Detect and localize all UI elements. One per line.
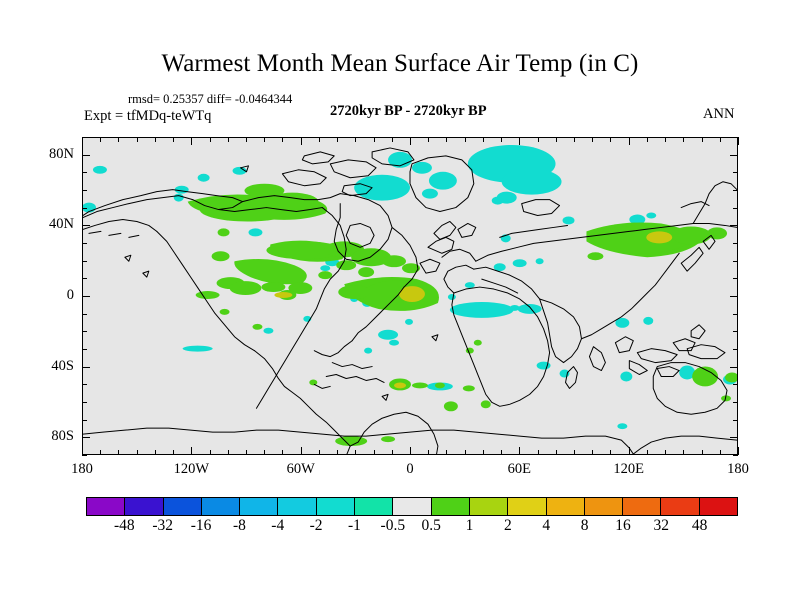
colorbar-cell-7 <box>355 498 393 515</box>
x-axis-label-180: 180 <box>698 462 778 477</box>
map-frame <box>82 137 738 455</box>
colorbar-cell-5 <box>278 498 316 515</box>
x-tick-top <box>738 137 739 145</box>
y-axis-label-0: 0 <box>67 288 74 303</box>
map-plot-area <box>82 137 738 455</box>
colorbar-tick-32: 32 <box>654 518 670 534</box>
colorbar-tick--4: -4 <box>271 518 284 534</box>
colorbar-tick-0.5: 0.5 <box>421 518 440 534</box>
colorbar-tick--32: -32 <box>152 518 173 534</box>
y-axis-label-40N: 40N <box>49 217 74 232</box>
y-tick <box>82 455 87 456</box>
colorbar-cell-10 <box>470 498 508 515</box>
colorbar-tick--0.5: -0.5 <box>381 518 406 534</box>
colorbar: -48-32-16-8-4-2-1-0.50.51248163248 <box>86 497 738 516</box>
statistics-line: rmsd= 0.25357 diff= -0.0464344 <box>128 92 292 107</box>
x-axis-label-0: 0 <box>370 462 450 477</box>
colorbar-tick--8: -8 <box>233 518 246 534</box>
colorbar-cell-9 <box>432 498 470 515</box>
colorbar-cells <box>86 497 738 516</box>
x-axis-label-180: 180 <box>42 462 122 477</box>
colorbar-cell-2 <box>164 498 202 515</box>
colorbar-tick-4: 4 <box>542 518 550 534</box>
colorbar-tick-1: 1 <box>466 518 474 534</box>
period-label: 2720kyr BP - 2720kyr BP <box>330 103 487 120</box>
x-axis-label-60W: 60W <box>261 462 341 477</box>
colorbar-tick--1: -1 <box>348 518 361 534</box>
colorbar-cell-3 <box>202 498 240 515</box>
colorbar-tick--2: -2 <box>310 518 323 534</box>
x-tick <box>738 447 739 455</box>
figure-canvas: Warmest Month Mean Surface Air Temp (in … <box>0 0 800 600</box>
experiment-label: Expt = tfMDq-teWTq <box>84 108 211 125</box>
colorbar-cell-4 <box>240 498 278 515</box>
x-axis-label-120W: 120W <box>151 462 231 477</box>
world-map <box>83 138 737 454</box>
colorbar-cell-16 <box>700 498 737 515</box>
colorbar-cell-14 <box>623 498 661 515</box>
colorbar-cell-11 <box>508 498 546 515</box>
colorbar-tick-labels: -48-32-16-8-4-2-1-0.50.51248163248 <box>86 518 738 538</box>
x-axis-label-120E: 120E <box>589 462 669 477</box>
colorbar-tick-2: 2 <box>504 518 512 534</box>
colorbar-tick-48: 48 <box>692 518 708 534</box>
x-axis-label-60E: 60E <box>479 462 559 477</box>
y-axis-label-80S: 80S <box>51 429 74 444</box>
colorbar-cell-1 <box>125 498 163 515</box>
colorbar-cell-13 <box>585 498 623 515</box>
colorbar-tick--48: -48 <box>114 518 135 534</box>
page-title: Warmest Month Mean Surface Air Temp (in … <box>0 50 800 78</box>
colorbar-tick-8: 8 <box>581 518 589 534</box>
colorbar-cell-15 <box>661 498 699 515</box>
colorbar-tick-16: 16 <box>615 518 631 534</box>
colorbar-cell-0 <box>87 498 125 515</box>
colorbar-tick--16: -16 <box>191 518 212 534</box>
colorbar-cell-6 <box>317 498 355 515</box>
season-label: ANN <box>703 106 734 123</box>
y-tick-right <box>733 455 738 456</box>
y-axis-label-40S: 40S <box>51 359 74 374</box>
colorbar-cell-12 <box>547 498 585 515</box>
y-axis-label-80N: 80N <box>49 147 74 162</box>
colorbar-cell-8 <box>393 498 431 515</box>
